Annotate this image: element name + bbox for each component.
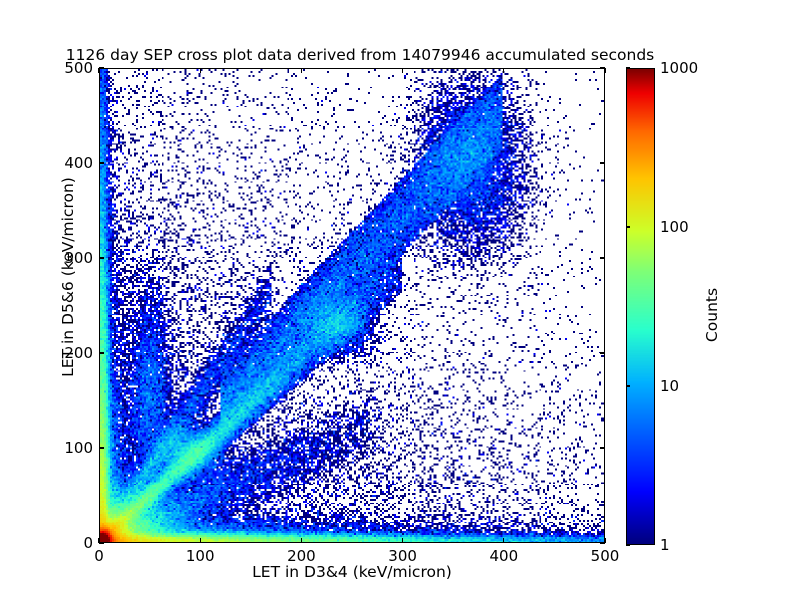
figure-canvas: 1126 day SEP cross plot data derived fro… [0, 0, 800, 600]
x-tick-mark-top-100 [200, 68, 201, 73]
colorbar-tick-mark-10 [626, 385, 630, 386]
colorbar [626, 68, 655, 545]
y-tick-mark-400 [99, 162, 104, 163]
x-tick-mark-200 [301, 538, 302, 543]
colorbar-gradient [627, 69, 654, 544]
y-tick-mark-300 [99, 257, 104, 258]
y-tick-mark-500 [99, 67, 104, 68]
y-tick-mark-right-400 [600, 162, 605, 163]
y-tick-label-0: 0 [37, 534, 93, 552]
colorbar-label: Counts [703, 215, 721, 415]
plot-area [99, 68, 605, 543]
y-tick-mark-right-100 [600, 447, 605, 448]
x-tick-mark-top-500 [604, 68, 605, 73]
x-tick-mark-400 [503, 538, 504, 543]
y-tick-mark-right-0 [600, 542, 605, 543]
x-tick-mark-top-200 [301, 68, 302, 73]
colorbar-tick-label-10: 10 [660, 377, 679, 395]
colorbar-tick-mark-100 [626, 226, 630, 227]
colorbar-tick-label-100: 100 [660, 218, 689, 236]
density-heatmap [100, 69, 604, 542]
colorbar-tick-label-1000: 1000 [660, 59, 698, 77]
x-tick-mark-top-0 [98, 68, 99, 73]
chart-title-line-1: 1126 day SEP cross plot data derived fro… [0, 46, 720, 65]
x-tick-mark-top-300 [402, 68, 403, 73]
y-tick-mark-right-300 [600, 257, 605, 258]
colorbar-tick-mark-1 [626, 544, 630, 545]
colorbar-tick-mark-1000 [626, 67, 630, 68]
colorbar-tick-label-1: 1 [660, 536, 670, 554]
y-tick-mark-200 [99, 352, 104, 353]
x-tick-mark-top-400 [503, 68, 504, 73]
y-tick-mark-right-500 [600, 67, 605, 68]
y-tick-mark-0 [99, 542, 104, 543]
y-tick-mark-100 [99, 447, 104, 448]
y-tick-mark-right-200 [600, 352, 605, 353]
y-axis-label: LET in D5&6 (keV/micron) [59, 47, 77, 507]
x-axis-label: LET in D3&4 (keV/micron) [99, 563, 605, 581]
x-tick-mark-300 [402, 538, 403, 543]
x-tick-mark-100 [200, 538, 201, 543]
